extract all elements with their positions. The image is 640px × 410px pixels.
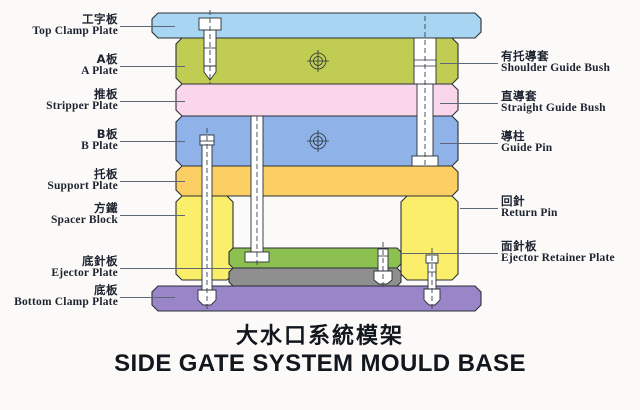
leader-return-pin	[460, 208, 498, 209]
label-b-plate: B板 B Plate	[81, 128, 118, 153]
label-en: Stripper Plate	[46, 100, 118, 112]
label-en: Guide Pin	[501, 142, 552, 154]
label-en: A Plate	[81, 65, 118, 77]
label-guide-pin: 導柱 Guide Pin	[501, 130, 552, 155]
label-ejector-retainer-plate: 面針板 Ejector Retainer Plate	[501, 240, 615, 265]
label-straight-guide-bush: 直導套 Straight Guide Bush	[501, 90, 606, 115]
label-en: Ejector Retainer Plate	[501, 252, 615, 264]
label-cn: 推板	[46, 88, 118, 100]
leader-spacer-block	[120, 215, 185, 216]
leader-bottom-clamp-plate	[120, 297, 175, 298]
label-top-clamp-plate: 工字板 Top Clamp Plate	[32, 13, 118, 38]
label-en: Bottom Clamp Plate	[14, 296, 118, 308]
leader-support-plate	[120, 181, 185, 182]
leader-stripper-plate	[120, 101, 185, 102]
label-cn: 托板	[47, 168, 118, 180]
diagram-page: .ol{stroke:#2a2f36;stroke-width:1.1;} .t…	[0, 0, 640, 410]
title-chinese: 大水口系統模架	[0, 318, 640, 350]
leader-shoulder-guide-bush	[440, 63, 498, 64]
label-a-plate: A板 A Plate	[81, 53, 118, 78]
label-stripper-plate: 推板 Stripper Plate	[46, 88, 118, 113]
title-english: SIDE GATE SYSTEM MOULD BASE	[0, 350, 640, 378]
label-cn: 有托導套	[501, 50, 610, 62]
label-en: Top Clamp Plate	[32, 25, 118, 37]
leader-straight-guide-bush	[440, 103, 498, 104]
label-cn: 方鐵	[51, 202, 118, 214]
label-cn: 面針板	[501, 240, 615, 252]
label-cn: 直導套	[501, 90, 606, 102]
label-support-plate: 托板 Support Plate	[47, 168, 118, 193]
label-cn: 底板	[14, 284, 118, 296]
label-cn: B板	[81, 128, 118, 140]
label-cn: 工字板	[32, 13, 118, 25]
label-en: Straight Guide Bush	[501, 102, 606, 114]
leader-ejector-retainer-plate	[400, 253, 498, 254]
label-bottom-clamp-plate: 底板 Bottom Clamp Plate	[14, 284, 118, 309]
stripper-plate	[176, 84, 458, 116]
label-cn: 底針板	[51, 255, 118, 267]
leader-a-plate	[120, 66, 185, 67]
support-plate	[176, 166, 458, 196]
label-en: Support Plate	[47, 180, 118, 192]
label-cn: 回針	[501, 195, 558, 207]
label-en: B Plate	[81, 140, 118, 152]
label-spacer-block: 方鐵 Spacer Block	[51, 202, 118, 227]
label-cn: A板	[81, 53, 118, 65]
label-ejector-plate: 底針板 Ejector Plate	[51, 255, 118, 280]
leader-guide-pin	[440, 143, 498, 144]
label-en: Shoulder Guide Bush	[501, 62, 610, 74]
label-return-pin: 回針 Return Pin	[501, 195, 558, 220]
leader-b-plate	[120, 141, 185, 142]
leader-ejector-plate	[120, 268, 232, 269]
leader-top-clamp-plate	[120, 26, 175, 27]
label-shoulder-guide-bush: 有托導套 Shoulder Guide Bush	[501, 50, 610, 75]
label-en: Spacer Block	[51, 214, 118, 226]
label-cn: 導柱	[501, 130, 552, 142]
label-en: Ejector Plate	[51, 267, 118, 279]
label-en: Return Pin	[501, 207, 558, 219]
